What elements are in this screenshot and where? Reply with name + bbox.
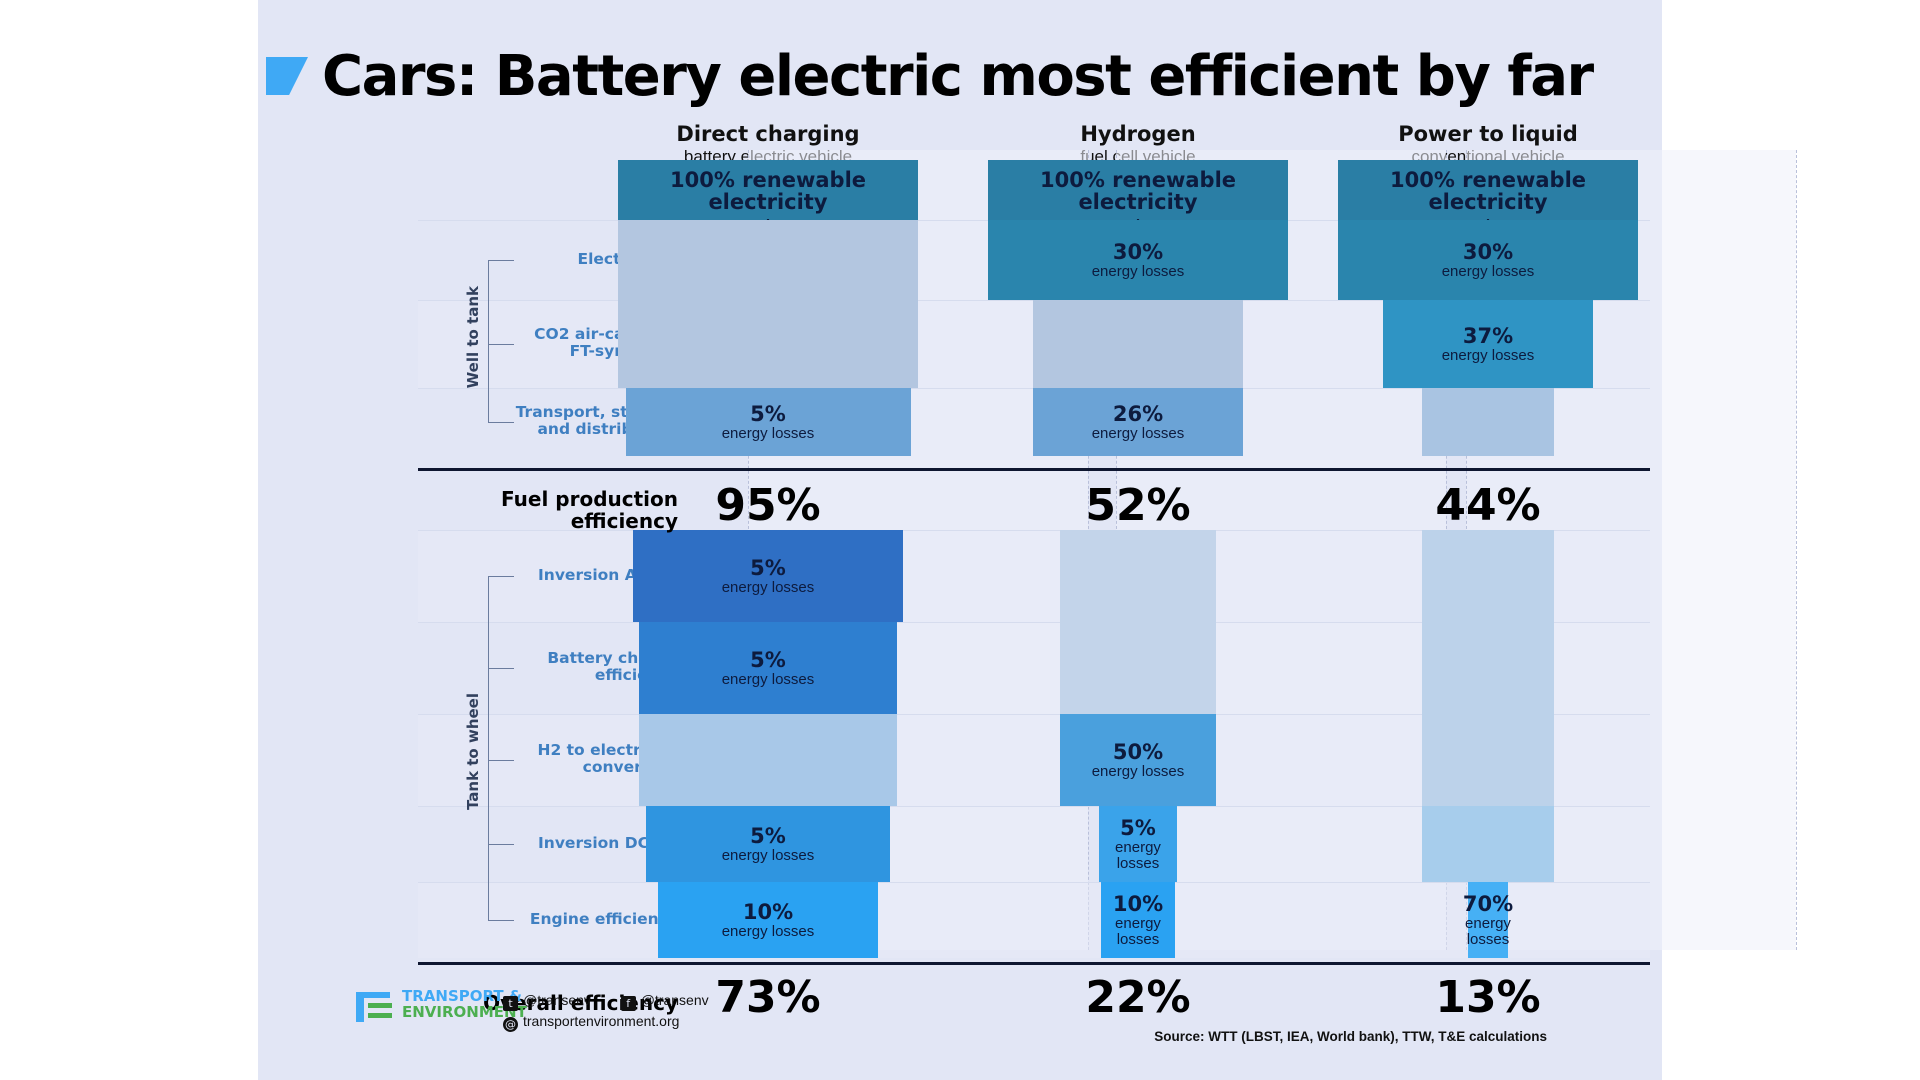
group-label-2: Tank to wheel: [464, 693, 482, 810]
social-links: t@transenv f@transenv @transportenvironm…: [503, 990, 709, 1032]
step-bar-c1-r8: 10%energy losses: [658, 882, 878, 958]
step-bar-c3-r6: [1422, 714, 1554, 806]
column-guide-3-right: [1796, 150, 1797, 950]
renewable-source-bar-1: 100% renewable electricity↓: [618, 160, 918, 220]
twitter-icon: t: [503, 996, 518, 1011]
te-logo-icon: [356, 988, 394, 1022]
step-bar-c1-r3: 5%energy losses: [626, 388, 911, 456]
loss-caption: energy losses: [1099, 840, 1177, 872]
loss-caption: energy losses: [1101, 916, 1175, 948]
step-bar-c1-r6: [639, 714, 896, 806]
facebook-handle[interactable]: @transenv: [641, 992, 709, 1008]
logo: TRANSPORT & ENVIRONMENT: [356, 988, 527, 1022]
loss-caption: energy losses: [1092, 764, 1185, 780]
group-bracket-2: [488, 576, 489, 920]
row-tick: [488, 920, 514, 921]
loss-percent: 30%: [1463, 241, 1513, 263]
loss-caption: energy losses: [1092, 264, 1185, 280]
step-bar-c2-r3: 26%energy losses: [1033, 388, 1243, 456]
loss-caption: energy losses: [722, 426, 815, 442]
step-bar-c2-r1: 30%energy losses: [988, 220, 1288, 300]
renewable-source-bar-2: 100% renewable electricity↓: [988, 160, 1288, 220]
row-tick: [488, 344, 514, 345]
step-bar-c2-r6: 50%energy losses: [1060, 714, 1215, 806]
overall-efficiency-rule: [418, 962, 1650, 965]
step-bar-c2-r2: [1033, 300, 1243, 388]
source-note: Source: WTT (LBST, IEA, World bank), TTW…: [1154, 1029, 1547, 1044]
loss-percent: 26%: [1113, 403, 1163, 425]
step-bar-c3-r4: [1422, 530, 1554, 622]
loss-percent: 5%: [1120, 817, 1156, 839]
step-bar-c3-r2: 37%energy losses: [1383, 300, 1593, 388]
loss-percent: 10%: [743, 901, 793, 923]
fuel-production-efficiency-value-1: 95%: [618, 480, 918, 531]
loss-percent: 50%: [1113, 741, 1163, 763]
fuel-production-efficiency-rule: [418, 468, 1650, 471]
loss-caption: energy losses: [1465, 916, 1511, 948]
column-title: Hydrogen: [988, 122, 1288, 146]
globe-icon: @: [503, 1017, 518, 1032]
loss-percent: 5%: [750, 825, 786, 847]
loss-caption: energy losses: [1092, 426, 1185, 442]
row-tick: [488, 422, 514, 423]
step-bar-c2-r4: [1060, 530, 1215, 622]
twitter-handle[interactable]: @transenv: [523, 992, 591, 1008]
step-bar-c1-r1: [618, 220, 918, 300]
step-bar-c1-r5: 5%energy losses: [639, 622, 896, 714]
loss-percent: 5%: [750, 649, 786, 671]
step-bar-c3-r3: [1422, 388, 1554, 456]
row-tick: [488, 844, 514, 845]
step-bar-c2-r8: 10%energy losses: [1101, 882, 1175, 958]
step-bar-c3-r1: 30%energy losses: [1338, 220, 1638, 300]
loss-percent: 30%: [1113, 241, 1163, 263]
step-bar-c1-r4: 5%energy losses: [633, 530, 904, 622]
row-separator: [418, 882, 1650, 883]
facebook-icon: f: [621, 996, 636, 1011]
step-bar-c3-r7: [1422, 806, 1554, 882]
loss-caption: energy losses: [722, 924, 815, 940]
renewable-source-bar-3: 100% renewable electricity↓: [1338, 160, 1638, 220]
loss-caption: energy losses: [722, 848, 815, 864]
step-bar-c3-r8: 70%energy losses: [1468, 882, 1508, 958]
loss-caption: energy losses: [1442, 264, 1535, 280]
column-title: Power to liquid: [1338, 122, 1638, 146]
footer: TRANSPORT & ENVIRONMENT t@transenv f@tra…: [258, 982, 1662, 1054]
loss-caption: energy losses: [722, 672, 815, 688]
step-bar-c1-r7: 5%energy losses: [646, 806, 890, 882]
funnel-chart: ElectrolysisCO2 air-capture,FT-synthesis…: [258, 150, 1662, 950]
page-title: Cars: Battery electric most efficient by…: [322, 44, 1593, 109]
loss-percent: 5%: [750, 403, 786, 425]
loss-percent: 70%: [1463, 893, 1513, 915]
group-bracket-1: [488, 260, 489, 422]
row-tick: [488, 260, 514, 261]
step-bar-c2-r5: [1060, 622, 1215, 714]
step-bar-c2-r7: 5%energy losses: [1099, 806, 1177, 882]
column-title: Direct charging: [618, 122, 918, 146]
fuel-production-efficiency-value-2: 52%: [988, 480, 1288, 531]
loss-percent: 37%: [1463, 325, 1513, 347]
loss-percent: 5%: [750, 557, 786, 579]
step-bar-c3-r5: [1422, 622, 1554, 714]
row-tick: [488, 668, 514, 669]
row-tick: [488, 576, 514, 577]
loss-caption: energy losses: [1442, 348, 1535, 364]
fuel-production-efficiency-value-3: 44%: [1338, 480, 1638, 531]
poster-canvas: Cars: Battery electric most efficient by…: [258, 0, 1662, 1080]
brand-chevron-icon: [266, 57, 308, 95]
row-tick: [488, 760, 514, 761]
loss-caption: energy losses: [722, 580, 815, 596]
loss-percent: 10%: [1113, 893, 1163, 915]
step-bar-c1-r2: [618, 300, 918, 388]
title-row: Cars: Battery electric most efficient by…: [258, 36, 1662, 116]
website-link[interactable]: transportenvironment.org: [523, 1013, 679, 1029]
group-label-1: Well to tank: [464, 286, 482, 388]
